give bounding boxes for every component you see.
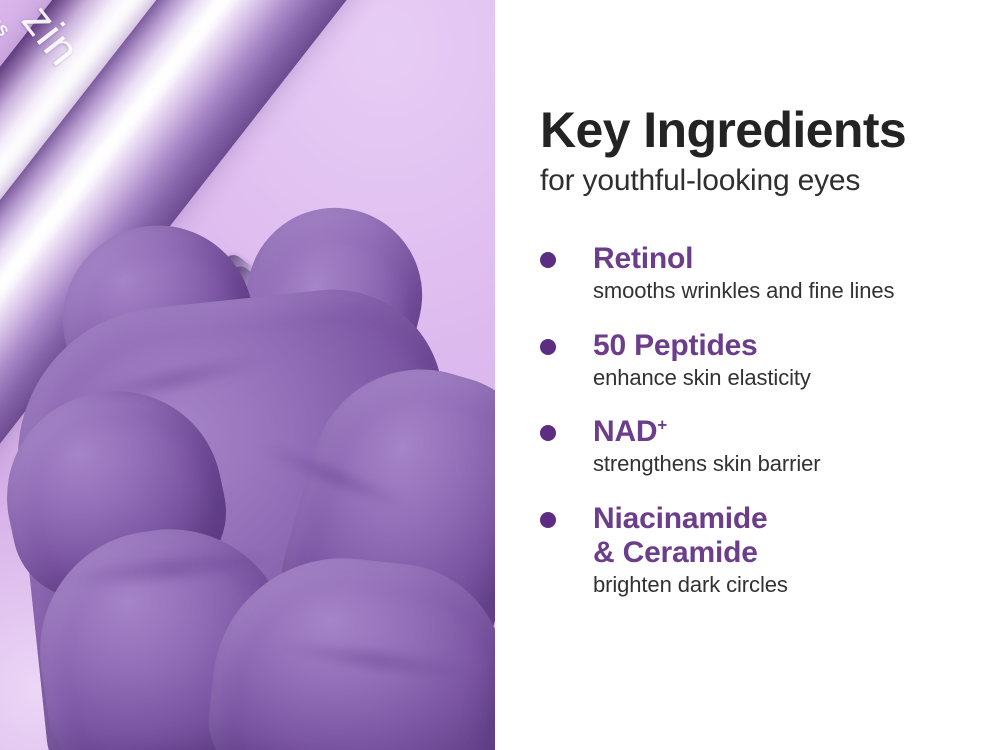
ingredient-item-retinol: Retinol smooths wrinkles and fine lines <box>540 242 976 305</box>
ingredient-description: enhance skin elasticity <box>593 365 976 391</box>
page-subtitle: for youthful-looking eyes <box>540 164 970 197</box>
key-ingredients-infographic: zin ol + 50 Peptides 9+ Key Ingredients … <box>0 0 1000 750</box>
ingredient-description: brighten dark circles <box>593 572 976 598</box>
ingredient-name: Niacinamide & Ceramide <box>593 502 976 570</box>
bullet-dot-icon <box>540 425 556 441</box>
ingredient-list: Retinol smooths wrinkles and fine lines … <box>540 242 976 599</box>
ingredient-name-superscript: + <box>657 416 667 435</box>
ingredient-item-niacinamide-ceramide: Niacinamide & Ceramide brighten dark cir… <box>540 502 976 599</box>
ingredient-item-50-peptides: 50 Peptides enhance skin elasticity <box>540 329 976 392</box>
bullet-dot-icon <box>540 252 556 268</box>
ingredient-description: smooths wrinkles and fine lines <box>593 278 976 304</box>
ingredient-name: Retinol <box>593 242 976 276</box>
bullet-dot-icon <box>540 339 556 355</box>
ingredient-name-base: NAD <box>593 415 657 448</box>
product-photo-panel: zin ol + 50 Peptides 9+ <box>0 0 495 750</box>
ingredient-name: 50 Peptides <box>593 329 976 363</box>
bullet-dot-icon <box>540 512 556 528</box>
page-title: Key Ingredients <box>540 104 970 156</box>
ingredients-text-panel: Key Ingredients for youthful-looking eye… <box>495 0 1000 750</box>
ingredient-name: NAD+ <box>593 415 976 449</box>
heading-block: Key Ingredients for youthful-looking eye… <box>540 104 970 197</box>
ingredient-description: strengthens skin barrier <box>593 451 976 477</box>
ingredient-item-nad-plus: NAD+ strengthens skin barrier <box>540 415 976 478</box>
